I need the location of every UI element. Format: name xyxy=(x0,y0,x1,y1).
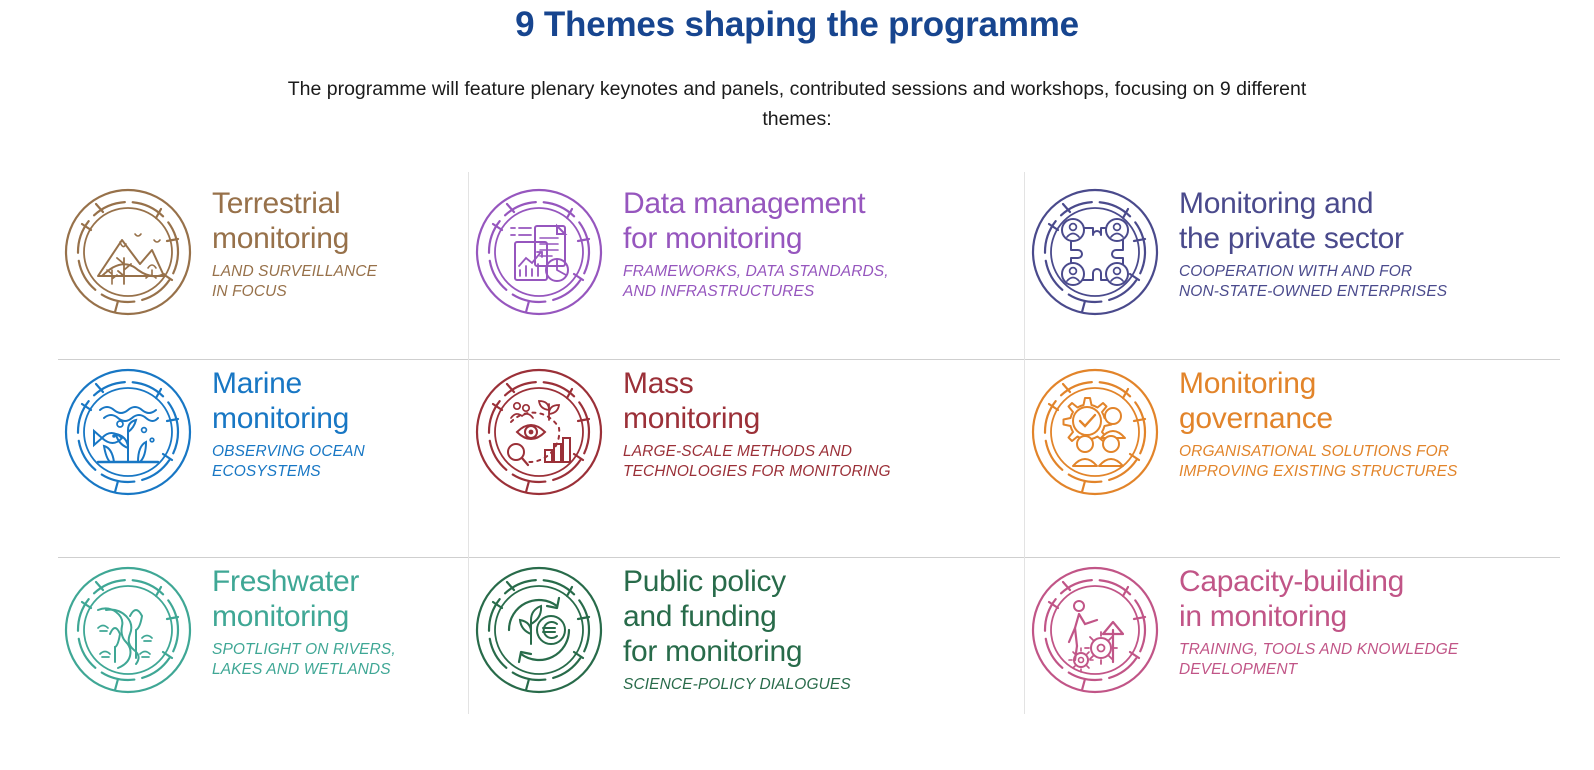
theme-subtitle: COOPERATION WITH AND FOR NON-STATE-OWNED… xyxy=(1179,262,1447,302)
theme-subtitle: TRAINING, TOOLS AND KNOWLEDGE DEVELOPMEN… xyxy=(1179,640,1458,680)
page-subtitle: The programme will feature plenary keyno… xyxy=(277,74,1317,134)
theme-subtitle: SPOTLIGHT ON RIVERS, LAKES AND WETLANDS xyxy=(212,640,396,680)
theme-card[interactable]: Monitoring governance ORGANISATIONAL SOL… xyxy=(1025,356,1560,554)
theme-title: Terrestrial monitoring xyxy=(212,186,377,256)
theme-card-text: Freshwater monitoring SPOTLIGHT ON RIVER… xyxy=(196,558,396,680)
theme-card-text: Data management for monitoring FRAMEWORK… xyxy=(607,180,889,302)
theme-subtitle: ORGANISATIONAL SOLUTIONS FOR IMPROVING E… xyxy=(1179,442,1457,482)
theme-card-text: Capacity-building in monitoring TRAINING… xyxy=(1163,558,1458,680)
theme-card[interactable]: Capacity-building in monitoring TRAINING… xyxy=(1025,554,1560,716)
theme-card-text: Monitoring and the private sector COOPER… xyxy=(1163,180,1447,302)
mountain-landscape-icon xyxy=(60,184,196,320)
fish-coral-icon xyxy=(60,364,196,500)
theme-title: Data management for monitoring xyxy=(623,186,889,256)
theme-card[interactable]: Mass monitoring LARGE-SCALE METHODS AND … xyxy=(469,356,1025,554)
theme-title: Capacity-building in monitoring xyxy=(1179,564,1458,634)
river-trees-icon xyxy=(60,562,196,698)
euro-leaf-cycle-icon xyxy=(471,562,607,698)
theme-card[interactable]: Marine monitoring OBSERVING OCEAN ECOSYS… xyxy=(58,356,469,554)
themes-grid: Terrestrial monitoring LAND SURVEILLANCE… xyxy=(58,176,1560,716)
theme-card[interactable]: Monitoring and the private sector COOPER… xyxy=(1025,176,1560,356)
theme-title: Marine monitoring xyxy=(212,366,365,436)
theme-subtitle: FRAMEWORKS, DATA STANDARDS, AND INFRASTR… xyxy=(623,262,889,302)
theme-title: Monitoring and the private sector xyxy=(1179,186,1447,256)
theme-subtitle: SCIENCE-POLICY DIALOGUES xyxy=(623,675,851,695)
theme-title: Mass monitoring xyxy=(623,366,891,436)
theme-subtitle: LAND SURVEILLANCE IN FOCUS xyxy=(212,262,377,302)
theme-title: Monitoring governance xyxy=(1179,366,1457,436)
theme-card[interactable]: Freshwater monitoring SPOTLIGHT ON RIVER… xyxy=(58,554,469,716)
theme-card[interactable]: Data management for monitoring FRAMEWORK… xyxy=(469,176,1025,356)
person-growth-gears-icon xyxy=(1027,562,1163,698)
page-title: 9 Themes shaping the programme xyxy=(0,2,1594,48)
theme-card-text: Mass monitoring LARGE-SCALE METHODS AND … xyxy=(607,360,891,482)
theme-title: Freshwater monitoring xyxy=(212,564,396,634)
gear-people-icon xyxy=(1027,364,1163,500)
theme-subtitle: OBSERVING OCEAN ECOSYSTEMS xyxy=(212,442,365,482)
theme-card[interactable]: Terrestrial monitoring LAND SURVEILLANCE… xyxy=(58,176,469,356)
documents-chart-icon xyxy=(471,184,607,320)
theme-title: Public policy and funding for monitoring xyxy=(623,564,851,669)
puzzle-people-icon xyxy=(1027,184,1163,320)
page-header: 9 Themes shaping the programme The progr… xyxy=(0,0,1594,134)
theme-card-text: Marine monitoring OBSERVING OCEAN ECOSYS… xyxy=(196,360,365,482)
theme-card-text: Public policy and funding for monitoring… xyxy=(607,558,851,695)
eye-analytics-icon xyxy=(471,364,607,500)
theme-card-text: Terrestrial monitoring LAND SURVEILLANCE… xyxy=(196,180,377,302)
theme-card[interactable]: Public policy and funding for monitoring… xyxy=(469,554,1025,716)
theme-card-text: Monitoring governance ORGANISATIONAL SOL… xyxy=(1163,360,1457,482)
theme-subtitle: LARGE-SCALE METHODS AND TECHNOLOGIES FOR… xyxy=(623,442,891,482)
